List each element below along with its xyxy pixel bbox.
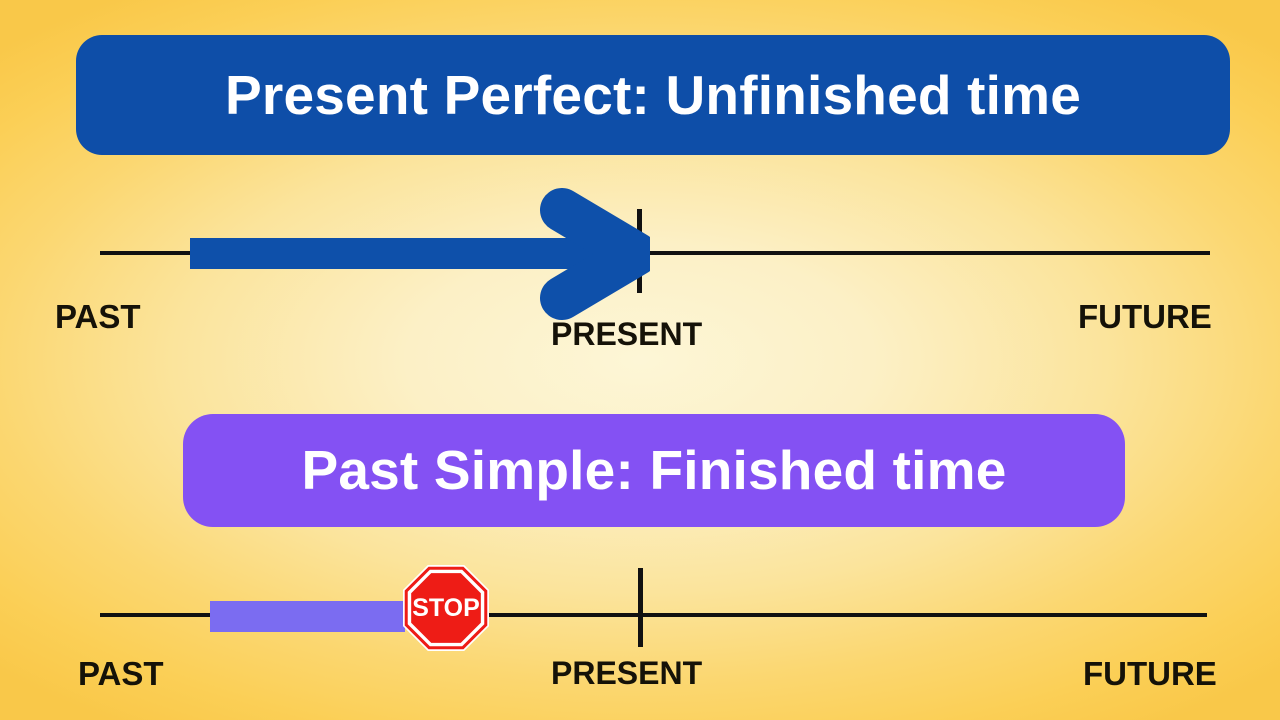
banner-present-perfect: Present Perfect: Unfinished time (76, 35, 1230, 155)
stop-sign-icon: STOP (403, 565, 489, 651)
label-past-top: PAST (55, 300, 141, 333)
banner-past-simple: Past Simple: Finished time (183, 414, 1125, 527)
label-past-bottom: PAST (78, 657, 164, 690)
timeline-axis-bottom (100, 613, 1207, 617)
stop-sign-label: STOP (412, 594, 479, 622)
timeline-infographic: Present Perfect: Unfinished time PAST PR… (0, 0, 1280, 720)
label-present-top: PRESENT (551, 318, 702, 350)
arrow-to-present-icon (540, 188, 650, 320)
banner-past-simple-text: Past Simple: Finished time (301, 443, 1006, 498)
unfinished-duration-bar (190, 238, 640, 269)
label-future-bottom: FUTURE (1083, 657, 1217, 690)
finished-duration-bar (210, 601, 405, 632)
timeline-axis-top (100, 251, 1210, 255)
present-tick-bottom (638, 568, 643, 647)
label-future-top: FUTURE (1078, 300, 1212, 333)
label-present-bottom: PRESENT (551, 657, 702, 689)
banner-present-perfect-text: Present Perfect: Unfinished time (225, 68, 1081, 123)
present-tick-top (637, 209, 642, 293)
